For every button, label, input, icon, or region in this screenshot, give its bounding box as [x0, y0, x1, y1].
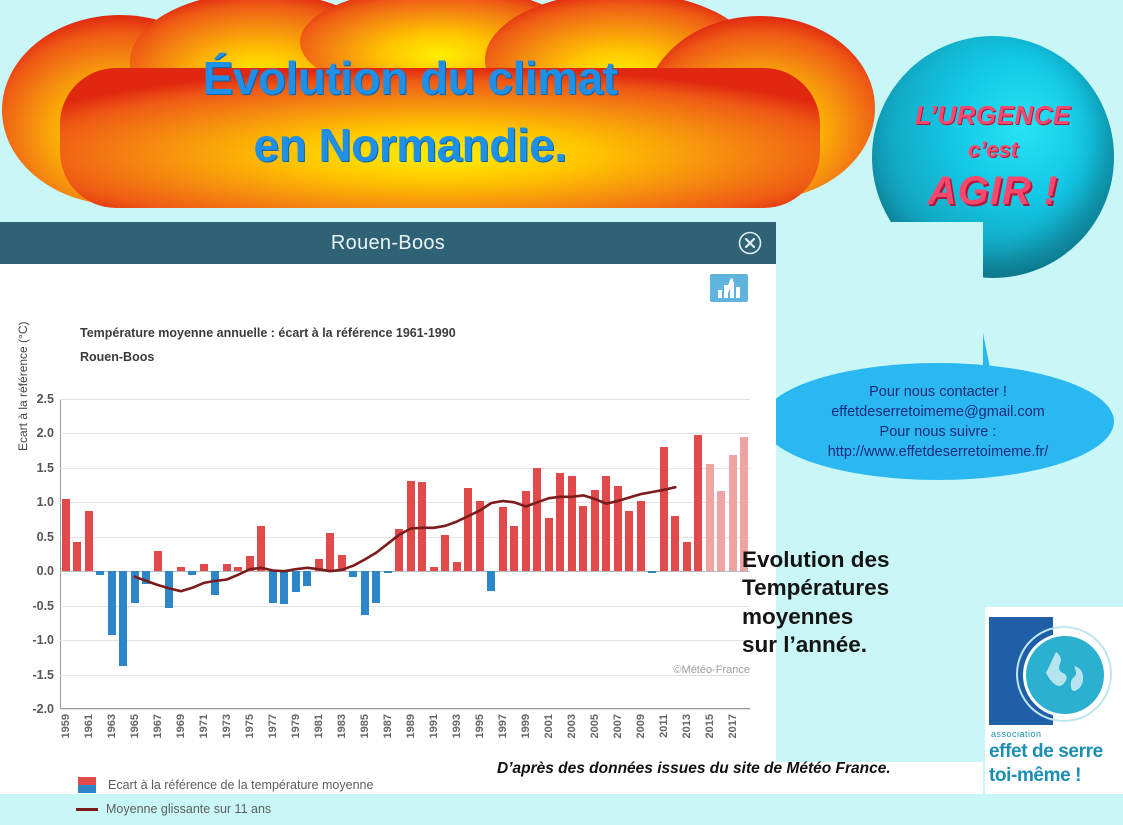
- bar: [85, 511, 93, 571]
- bar: [694, 435, 702, 571]
- gridline: [60, 709, 750, 710]
- bar: [165, 571, 173, 608]
- caption-line-1: Evolution des: [742, 546, 890, 574]
- y-tick-label: 0.5: [37, 530, 54, 544]
- bar: [280, 571, 288, 603]
- source-note: D’après des données issues du site de Mé…: [497, 760, 891, 778]
- bar: [62, 499, 70, 571]
- bar: [349, 571, 357, 577]
- y-tick-label: 2.0: [37, 426, 54, 440]
- x-tick-label: 1973: [221, 714, 233, 738]
- bar: [407, 481, 415, 571]
- bar: [257, 526, 265, 571]
- legend-item-trend: Moyenne glissante sur 11 ans: [78, 802, 373, 816]
- logo-line-2: toi-même !: [989, 765, 1081, 787]
- x-tick-label: 1985: [359, 714, 371, 738]
- bar: [648, 571, 656, 573]
- bar: [131, 571, 139, 603]
- bar: [671, 516, 679, 571]
- bar: [568, 476, 576, 571]
- y-tick-label: 2.5: [37, 392, 54, 406]
- chart-subtitle: Rouen-Boos: [80, 350, 154, 364]
- x-tick-label: 1965: [129, 714, 141, 738]
- bar: [510, 526, 518, 571]
- caption-block: Evolution des Températures moyennes sur …: [742, 546, 890, 659]
- window-title: Rouen-Boos: [331, 232, 445, 255]
- y-tick-label: -1.5: [32, 668, 54, 682]
- legend-item-bars: Ecart à la référence de la température m…: [78, 777, 373, 793]
- contact-callout: Pour nous contacter ! effetdeserretoimem…: [762, 363, 1114, 480]
- x-tick-label: 1997: [497, 714, 509, 738]
- y-tick-label: -2.0: [32, 702, 54, 716]
- contact-line-1: Pour nous contacter !: [828, 382, 1049, 402]
- chart-legend: Ecart à la référence de la température m…: [78, 777, 373, 825]
- y-tick-label: -1.0: [32, 633, 54, 647]
- contact-line-3: Pour nous suivre :: [828, 422, 1049, 442]
- bar: [234, 567, 242, 571]
- urgency-line-3: AGIR !: [928, 169, 1058, 214]
- x-tick-label: 2003: [566, 714, 578, 738]
- legend-swatch-icon: [78, 777, 96, 793]
- cloud-banner: Évolution du climat en Normandie.: [0, 0, 880, 225]
- bar: [154, 551, 162, 571]
- bar: [625, 511, 633, 572]
- bar: [326, 533, 334, 571]
- watermark: ©Météo-France: [673, 664, 750, 676]
- plot-area: Ecart à la référence (°C) 2.52.01.51.00.…: [60, 399, 750, 709]
- y-tick-label: 1.0: [37, 495, 54, 509]
- bar: [211, 571, 219, 595]
- title-line-2: en Normandie.: [60, 112, 760, 179]
- bar: [292, 571, 300, 592]
- right-panel-sky: [776, 222, 983, 762]
- bar: [315, 559, 323, 571]
- bar: [96, 571, 104, 575]
- bar: [223, 564, 231, 571]
- legend-label-trend: Moyenne glissante sur 11 ans: [106, 802, 271, 816]
- legend-label-bars: Ecart à la référence de la température m…: [108, 778, 373, 792]
- x-tick-label: 1989: [405, 714, 417, 738]
- bar: [108, 571, 116, 634]
- bar: [717, 491, 725, 571]
- contact-website[interactable]: http://www.effetdeserretoimeme.fr/: [828, 442, 1049, 462]
- x-tick-label: 2005: [589, 714, 601, 738]
- bar-series: [60, 399, 750, 709]
- window-header: Rouen-Boos: [0, 222, 776, 264]
- x-tick-label: 1983: [336, 714, 348, 738]
- x-tick-label: 1971: [198, 714, 210, 738]
- y-tick-label: 0.0: [37, 564, 54, 578]
- bar: [522, 491, 530, 572]
- bar: [591, 490, 599, 571]
- x-tick-label: 1987: [382, 714, 394, 738]
- bar: [338, 555, 346, 572]
- bar: [729, 455, 737, 571]
- bar: [303, 571, 311, 586]
- bar: [499, 507, 507, 571]
- bar: [614, 486, 622, 571]
- x-tick-label: 1977: [267, 714, 279, 738]
- x-tick-label: 2001: [543, 714, 555, 738]
- y-tick-label: -0.5: [32, 599, 54, 613]
- bar: [188, 571, 196, 575]
- bar: [683, 542, 691, 572]
- bar: [395, 529, 403, 572]
- x-tick-label: 1967: [152, 714, 164, 738]
- chart-title: Température moyenne annuelle : écart à l…: [80, 326, 456, 340]
- poster-canvas: Évolution du climat en Normandie. L’URGE…: [0, 0, 1123, 794]
- bar: [142, 571, 150, 583]
- caption-line-2: Températures: [742, 574, 890, 602]
- bar: [660, 447, 668, 572]
- logo-assoc-label: association: [991, 729, 1042, 739]
- x-tick-label: 2015: [704, 714, 716, 738]
- x-tick-label: 1981: [313, 714, 325, 738]
- x-tick-label: 2017: [727, 714, 739, 738]
- y-tick-label: 1.5: [37, 461, 54, 475]
- bar: [476, 501, 484, 571]
- association-logo: association effet de serre toi-même !: [985, 607, 1123, 794]
- x-tick-label: 1991: [428, 714, 440, 738]
- bar: [441, 535, 449, 571]
- bar: [372, 571, 380, 603]
- x-tick-label: 1995: [474, 714, 486, 738]
- contact-email[interactable]: effetdeserretoimeme@gmail.com: [828, 402, 1049, 422]
- title-line-1: Évolution du climat: [60, 45, 760, 112]
- meteo-window: Rouen-Boos Température moyenne annuelle …: [0, 222, 776, 794]
- urgency-line-1: L’URGENCE: [915, 100, 1071, 131]
- y-axis-label: Ecart à la référence (°C): [16, 321, 30, 451]
- bar: [706, 464, 714, 571]
- logo-line-1: effet de serre: [989, 741, 1103, 763]
- legend-line-icon: [76, 808, 98, 811]
- bar: [73, 542, 81, 572]
- x-tick-label: 1999: [520, 714, 532, 738]
- bar: [579, 506, 587, 571]
- bar: [418, 482, 426, 572]
- bar: [533, 468, 541, 571]
- bar: [464, 488, 472, 571]
- bar: [487, 571, 495, 590]
- bar: [177, 567, 185, 571]
- x-tick-label: 2011: [658, 714, 670, 738]
- page-title: Évolution du climat en Normandie.: [60, 45, 760, 178]
- bar: [200, 564, 208, 572]
- bar: [246, 556, 254, 571]
- x-tick-label: 1959: [60, 714, 72, 738]
- bar: [637, 501, 645, 571]
- bar: [545, 518, 553, 571]
- x-tick-label: 2009: [635, 714, 647, 738]
- window-body: Température moyenne annuelle : écart à l…: [0, 264, 776, 794]
- x-tick-label: 2013: [681, 714, 693, 738]
- close-icon[interactable]: [738, 231, 762, 255]
- bar: [384, 571, 392, 573]
- urgency-line-2: c’est: [968, 137, 1018, 163]
- x-tick-label: 1993: [451, 714, 463, 738]
- x-tick-label: 1969: [175, 714, 187, 738]
- bar: [602, 476, 610, 571]
- bar: [430, 567, 438, 571]
- bar-chart-icon[interactable]: [710, 274, 748, 302]
- x-tick-label: 1961: [83, 714, 95, 738]
- bar: [556, 473, 564, 571]
- x-tick-label: 1975: [244, 714, 256, 738]
- bar: [453, 562, 461, 572]
- caption-line-3: moyennes: [742, 603, 890, 631]
- bar: [119, 571, 127, 666]
- x-tick-label: 1963: [106, 714, 118, 738]
- bar: [269, 571, 277, 603]
- caption-line-4: sur l’année.: [742, 631, 890, 659]
- bar: [361, 571, 369, 614]
- globe-icon: [1023, 633, 1107, 717]
- x-tick-label: 2007: [612, 714, 624, 738]
- x-tick-label: 1979: [290, 714, 302, 738]
